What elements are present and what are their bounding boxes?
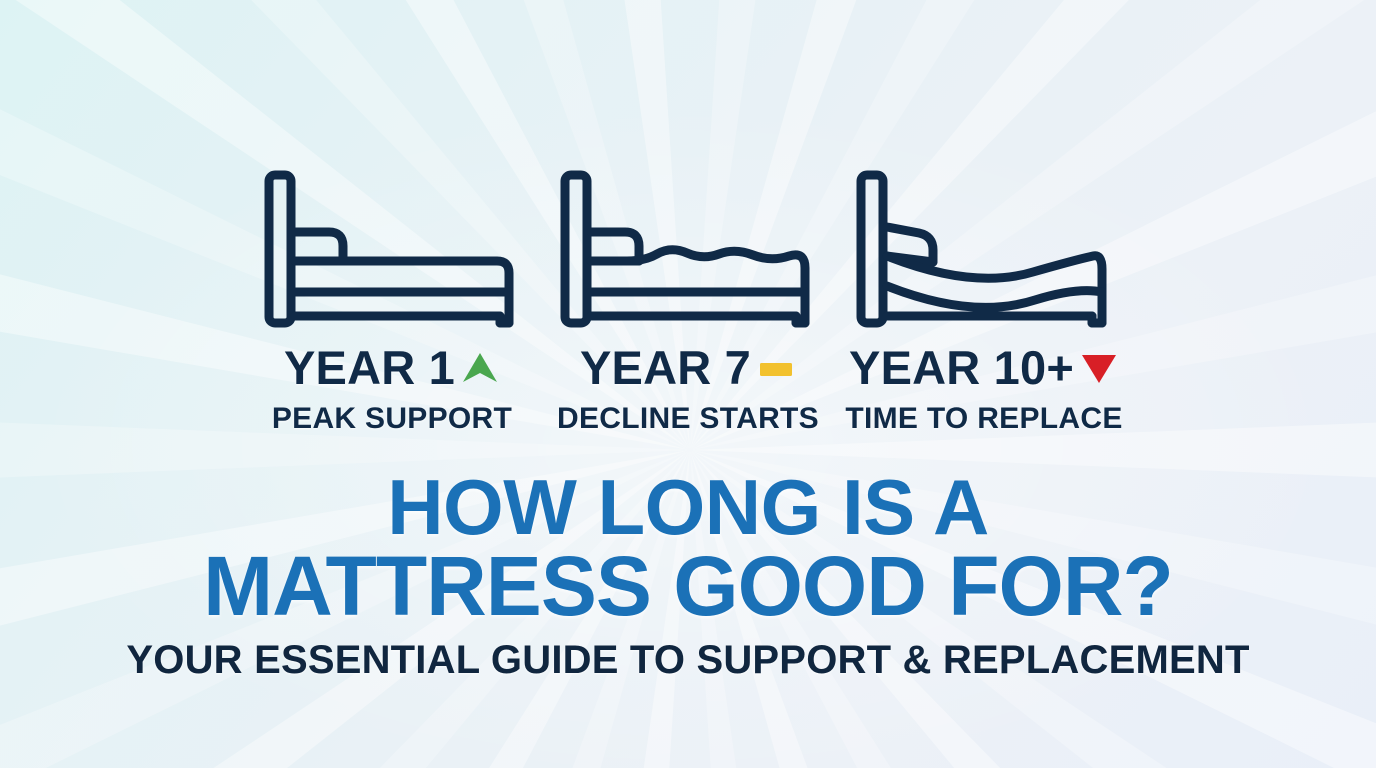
headline-line-1: HOW LONG IS A [0,470,1376,546]
year-row-7: YEAR 7 [580,344,796,391]
year-label: YEAR 10+ [849,344,1074,391]
bed-flat-icon [261,168,523,330]
dash-icon [756,349,796,387]
bed-sagging-icon [853,168,1115,330]
year-label: YEAR 1 [284,344,455,391]
headline-line-2: MATTRESS GOOD FOR? [0,546,1376,627]
year-label: YEAR 7 [580,344,751,391]
stage-sub-label: DECLINE STARTS [557,404,819,434]
page-title: HOW LONG IS A MATTRESS GOOD FOR? [0,470,1376,627]
stage-sub-label: TIME TO REPLACE [845,404,1122,434]
stage-item-year-7: YEAR 7 DECLINE STARTS [540,168,836,434]
arrow-down-icon [1079,349,1119,387]
arrow-up-icon [460,349,500,387]
stage-item-year-1: YEAR 1 PEAK SUPPORT [244,168,540,434]
stage-item-year-10-plus: YEAR 10+ TIME TO REPLACE [836,168,1132,434]
bed-wavy-icon [557,168,819,330]
year-row-1: YEAR 1 [284,344,500,391]
infographic-canvas: YEAR 1 PEAK SUPPORT [0,0,1376,768]
infographic-content: YEAR 1 PEAK SUPPORT [0,0,1376,768]
stage-sub-label: PEAK SUPPORT [272,404,512,434]
page-subtitle: YOUR ESSENTIAL GUIDE TO SUPPORT & REPLAC… [0,640,1376,680]
year-row-10-plus: YEAR 10+ [849,344,1119,391]
stage-row: YEAR 1 PEAK SUPPORT [0,168,1376,434]
